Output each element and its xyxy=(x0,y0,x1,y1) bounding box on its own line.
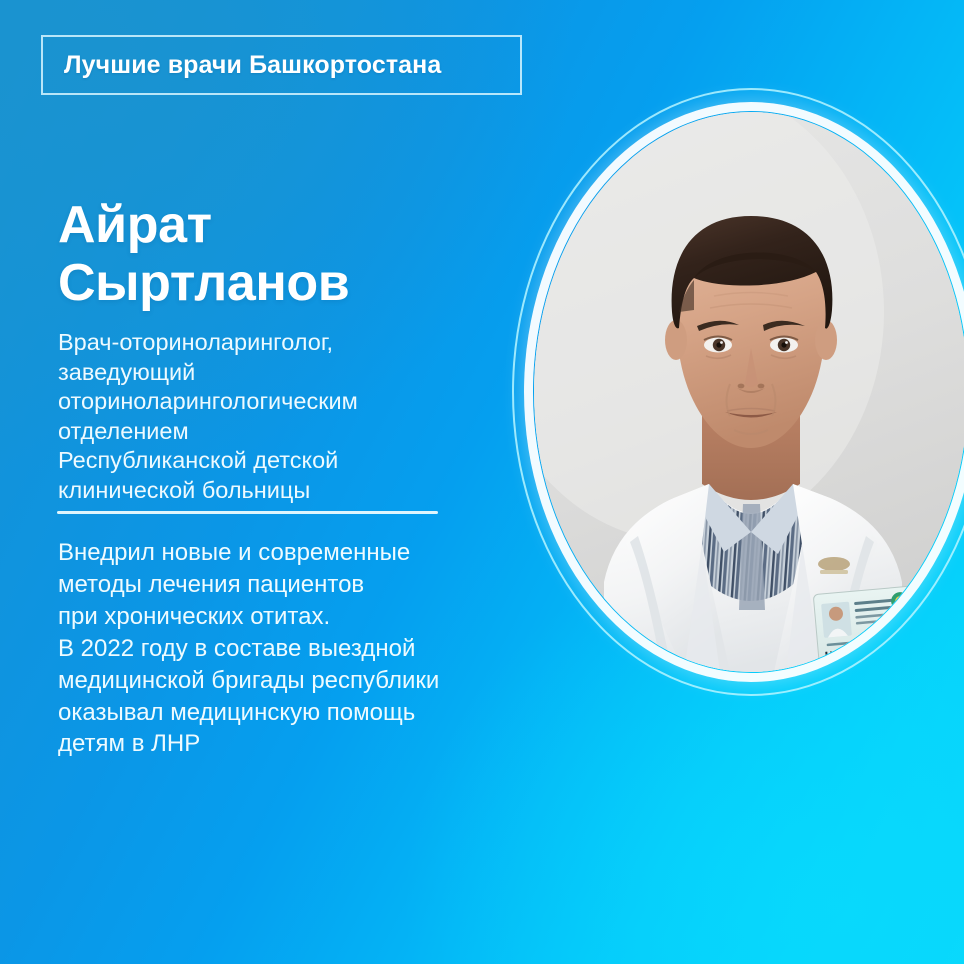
doctor-portrait-illustration xyxy=(534,112,964,672)
header-badge: Лучшие врачи Башкортостана xyxy=(41,35,522,95)
section-divider xyxy=(57,511,438,514)
poster-root: Лучшие врачи Башкортостана Айрат Сыртлан… xyxy=(0,0,964,964)
portrait-frame xyxy=(512,88,964,696)
coat-emblem xyxy=(818,557,850,574)
role-line: отделением xyxy=(58,417,503,447)
header-badge-label: Лучшие врачи Башкортостана xyxy=(43,51,441,80)
role-line: Врач-оториноларинголог, xyxy=(58,328,503,358)
doctor-role: Врач-оториноларинголог, заведующий отори… xyxy=(58,328,503,506)
description-line: оказывал медицинскую помощь xyxy=(58,697,578,729)
description-line: медицинской бригады республики xyxy=(58,665,578,697)
doctor-name: Айрат Сыртланов xyxy=(58,196,488,312)
description-line: Внедрил новые и современные xyxy=(58,537,578,569)
doctor-first-name: Айрат xyxy=(58,196,488,254)
role-line: оториноларингологическим xyxy=(58,387,503,417)
doctor-description: Внедрил новые и современные методы лечен… xyxy=(58,537,578,760)
role-line: Республиканской детской xyxy=(58,446,503,476)
description-line: В 2022 году в составе выездной xyxy=(58,633,578,665)
portrait-photo xyxy=(534,112,964,672)
role-line: клинической больницы xyxy=(58,476,503,506)
role-line: заведующий xyxy=(58,358,503,388)
doctor-last-name: Сыртланов xyxy=(58,254,488,312)
description-line: детям в ЛНР xyxy=(58,728,578,760)
description-line: методы лечения пациентов xyxy=(58,569,578,601)
description-line: при хронических отитах. xyxy=(58,601,578,633)
